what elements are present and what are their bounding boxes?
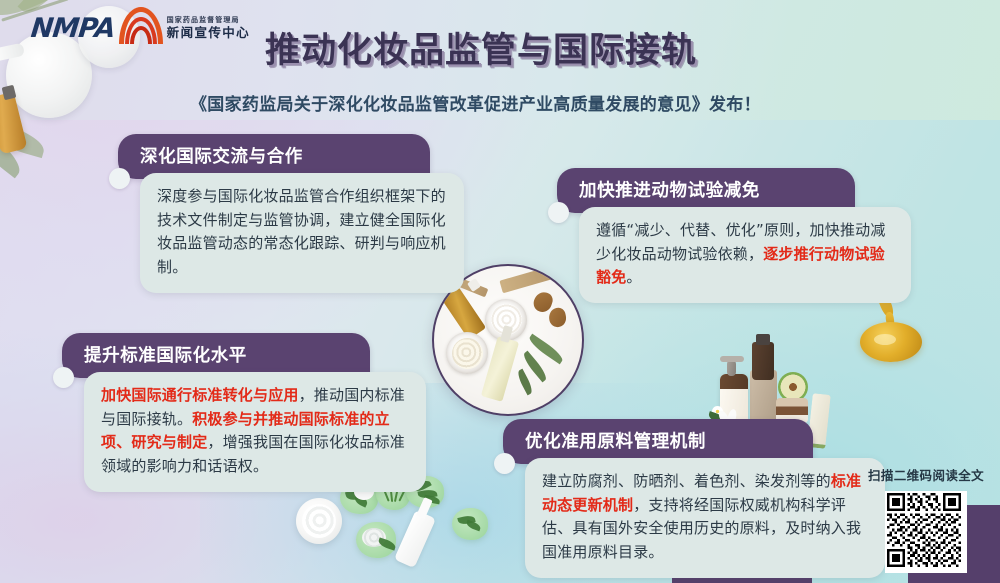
info-card-2: 加快推进动物试验减免 遵循“减少、代替、优化”原则，加快推动减少化妆品动物试验依… (557, 168, 895, 303)
qr-caption: 扫描二维码阅读全文 (866, 465, 986, 484)
logo-org-line1: 国家药品监督管理局 (167, 17, 250, 24)
page-subtitle: 《国家药监局关于深化化妆品监管改革促进产业高质量发展的意见》发布！ (190, 90, 761, 115)
info-card-1-body: 深度参与国际化妆品监管合作组织框架下的技术文件制定与监管协调，建立健全国际化妆品… (140, 173, 464, 293)
logo-wordmark: NMPA (30, 15, 117, 42)
info-card-4: 优化准用原料管理机制 建立防腐剂、防晒剂、着色剂、染发剂等的标准动态更新机制，支… (503, 419, 869, 578)
info-card-3-body: 加快国际通行标准转化与应用，推动国内标准与国际接轨。积极参与并推动国际标准的立项… (84, 372, 426, 492)
highlighted-text: 加快国际通行标准转化与应用 (101, 386, 299, 404)
body-text: 。 (626, 268, 641, 286)
infographic-canvas: NMPA 国家药品监督管理局 新闻宣传中心 推动化妆品监管与国际接轨 《国家药监… (0, 0, 1000, 583)
info-card-1: 深化国际交流与合作 深度参与国际化妆品监管合作组织框架下的技术文件制定与监管协调… (118, 134, 448, 293)
qr-block: 扫描二维码阅读全文 (866, 465, 986, 573)
info-card-1-accent-dot (109, 168, 130, 189)
info-card-4-body: 建立防腐剂、防晒剂、着色剂、染发剂等的标准动态更新机制，支持将经国际权威机构科学… (525, 458, 885, 578)
body-text: 建立防腐剂、防晒剂、着色剂、染发剂等的 (542, 472, 831, 490)
nmpa-arc-logo-icon (124, 12, 158, 44)
qr-code-icon[interactable] (885, 491, 967, 573)
info-card-3: 提升标准国际化水平 加快国际通行标准转化与应用，推动国内标准与国际接轨。积极参与… (62, 333, 410, 492)
info-card-3-accent-dot (53, 367, 74, 388)
nmpa-logo: NMPA 国家药品监督管理局 新闻宣传中心 (31, 12, 250, 44)
logo-org-text: 国家药品监督管理局 新闻宣传中心 (167, 17, 250, 40)
page-title: 推动化妆品监管与国际接轨 (265, 22, 697, 73)
info-card-2-body: 遵循“减少、代替、优化”原则，加快推动减少化妆品动物试验依赖，逐步推行动物试验豁… (579, 207, 911, 303)
body-text: 深度参与国际化妆品监管合作组织框架下的技术文件制定与监管协调，建立健全国际化妆品… (157, 187, 446, 276)
info-card-4-accent-dot (494, 453, 515, 474)
info-card-2-accent-dot (548, 202, 569, 223)
logo-org-line2: 新闻宣传中心 (167, 27, 250, 40)
